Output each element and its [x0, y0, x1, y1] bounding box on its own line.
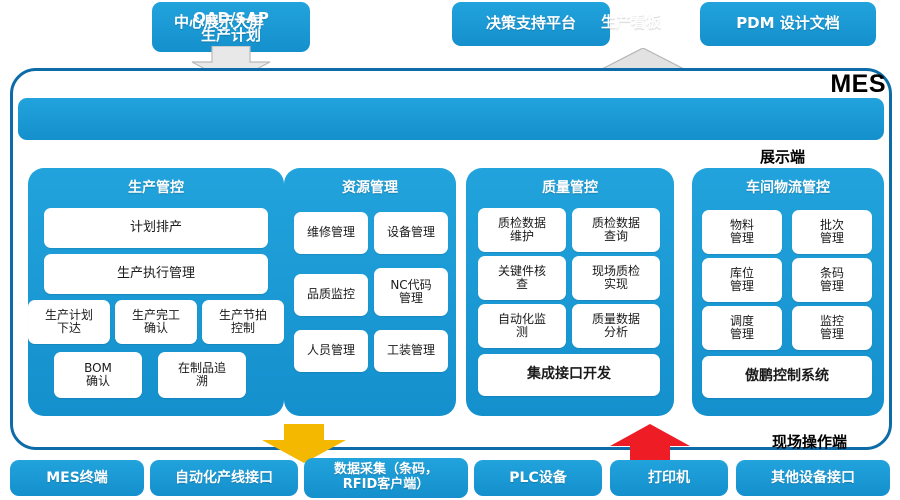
- device-plc[interactable]: PLC设备: [474, 460, 602, 496]
- device-data-acquisition[interactable]: 数据采集（条码， RFID客户端）: [304, 458, 468, 498]
- module-batch-management[interactable]: 批次 管理: [792, 210, 872, 254]
- module-inspection-data-maintenance[interactable]: 质检数据 维护: [478, 208, 566, 252]
- module-integration-interface-development[interactable]: 集成接口开发: [478, 354, 660, 396]
- module-material-management[interactable]: 物料 管理: [702, 210, 782, 254]
- module-production-completion-confirm[interactable]: 生产完工 确认: [115, 300, 197, 344]
- device-automation-line-interface[interactable]: 自动化产线接口: [150, 460, 298, 496]
- mes-root-label: MES: [830, 70, 886, 99]
- device-mes-terminal-line1: MES终端: [46, 470, 108, 486]
- module-storage-location-management[interactable]: 库位 管理: [702, 258, 782, 302]
- side-label-display-side: 展示端: [760, 146, 805, 167]
- device-data-acquisition-line2: RFID客户端）: [334, 478, 438, 493]
- panel-quality-control: 质量管控 质检数据 维护 质检数据 查询 关键件核 查 现场质检 实现: [466, 168, 674, 416]
- module-production-takt-control[interactable]: 生产节拍 控制: [202, 300, 284, 344]
- module-quality-monitoring[interactable]: 品质监控: [294, 274, 368, 316]
- device-automation-line-interface-line1: 自动化产线接口: [175, 470, 273, 486]
- panel-quality-control-title: 质量管控: [466, 177, 674, 197]
- module-personnel-management[interactable]: 人员管理: [294, 330, 368, 372]
- panel-production-control: 生产管控 计划排产 生产执行管理 生产计划 下达 生产完工 确认 生产节拍 控制: [28, 168, 284, 416]
- banner-label-production-board: 生产看板: [601, 11, 661, 32]
- panel-workshop-logistics-control-title: 车间物流管控: [692, 177, 884, 197]
- top-system-pdm[interactable]: PDM 设计文档: [700, 2, 876, 46]
- module-monitoring-management[interactable]: 监控 管理: [792, 306, 872, 350]
- module-barcode-management[interactable]: 条码 管理: [792, 258, 872, 302]
- module-onsite-inspection-implementation[interactable]: 现场质检 实现: [572, 256, 660, 300]
- module-production-plan-release[interactable]: 生产计划 下达: [28, 300, 110, 344]
- module-automation-monitoring[interactable]: 自动化监 测: [478, 304, 566, 348]
- arrow-up-from-devices-icon: [608, 424, 692, 462]
- banner-label-center-display: 中心展示大屏: [174, 11, 264, 32]
- device-printer-line1: 打印机: [648, 470, 690, 486]
- panel-resource-management-title: 资源管理: [284, 177, 456, 197]
- device-data-acquisition-line1: 数据采集（条码，: [334, 463, 438, 478]
- module-wip-traceability[interactable]: 在制品追 溯: [158, 352, 246, 398]
- device-mes-terminal[interactable]: MES终端: [10, 460, 144, 496]
- side-label-field-side: 现场操作端: [772, 431, 847, 452]
- module-nc-code-management[interactable]: NC代码 管理: [374, 268, 448, 316]
- top-system-decision-platform[interactable]: 决策支持平台: [452, 2, 610, 46]
- module-bom-confirm[interactable]: BOM 确认: [54, 352, 142, 398]
- panel-resource-management: 资源管理 维修管理 设备管理 品质监控 NC代码 管理 人员管理 工装管理: [284, 168, 456, 416]
- module-equipment-management[interactable]: 设备管理: [374, 212, 448, 254]
- top-system-pdm-line1: PDM 设计文档: [736, 15, 840, 32]
- panel-workshop-logistics-control: 车间物流管控 物料 管理 批次 管理 库位 管理 条码 管理: [692, 168, 884, 416]
- panel-production-control-title: 生产管控: [28, 177, 284, 197]
- top-system-decision-platform-line1: 决策支持平台: [486, 15, 576, 32]
- module-inspection-data-query[interactable]: 质检数据 查询: [572, 208, 660, 252]
- module-plan-scheduling[interactable]: 计划排产: [44, 208, 268, 248]
- module-production-execution-management[interactable]: 生产执行管理: [44, 254, 268, 294]
- device-plc-line1: PLC设备: [509, 470, 566, 486]
- device-printer[interactable]: 打印机: [610, 460, 728, 496]
- module-key-part-verification[interactable]: 关键件核 查: [478, 256, 566, 300]
- device-other-interface-line1: 其他设备接口: [771, 470, 855, 486]
- module-tooling-management[interactable]: 工装管理: [374, 330, 448, 372]
- mes-architecture-diagram: QAD/SAP 生产计划 决策支持平台 PDM 设计文档 MES 中心展示大屏 …: [0, 0, 900, 500]
- module-dispatch-management[interactable]: 调度 管理: [702, 306, 782, 350]
- module-maintenance-management[interactable]: 维修管理: [294, 212, 368, 254]
- display-banner[interactable]: [18, 98, 884, 140]
- module-quality-data-analysis[interactable]: 质量数据 分析: [572, 304, 660, 348]
- module-aopeng-control-system[interactable]: 傲鹏控制系统: [702, 356, 872, 398]
- device-other-interface[interactable]: 其他设备接口: [736, 460, 890, 496]
